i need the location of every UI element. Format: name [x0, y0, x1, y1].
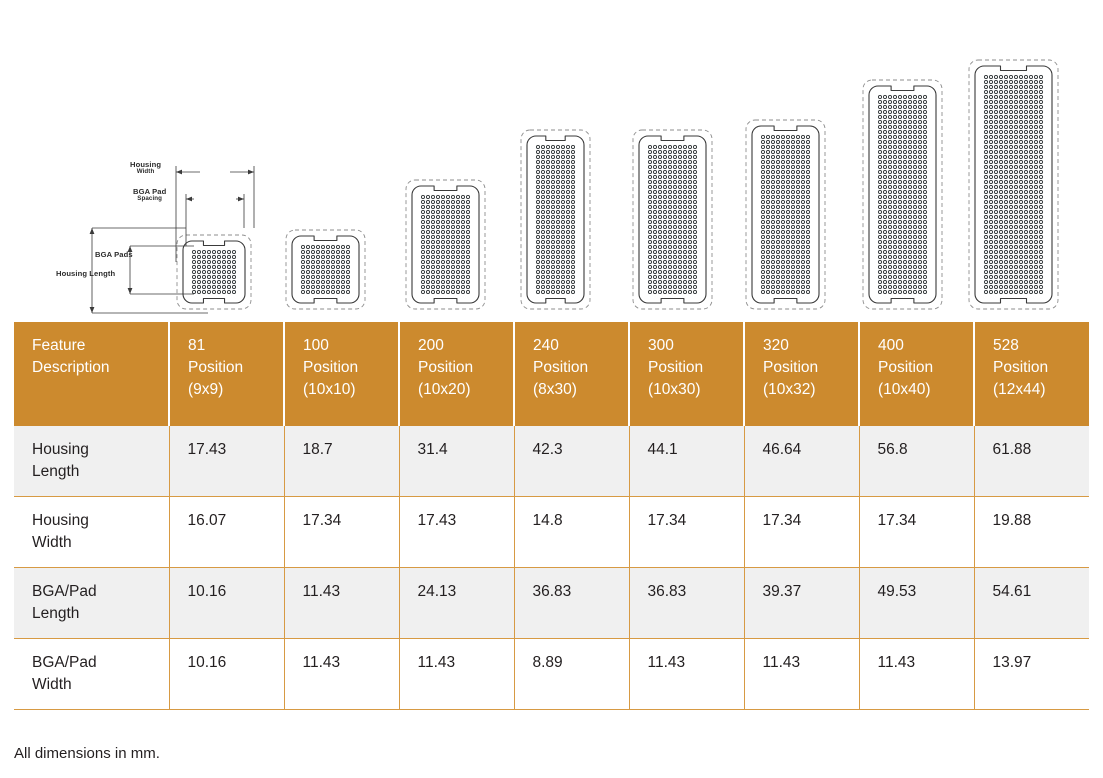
table-row: BGA/Pad Width10.1611.4311.438.8911.4311.… — [14, 639, 1089, 710]
dimension-callouts: Housing Width BGA Pad Spacing BGA Pads H… — [58, 158, 288, 320]
column-header-position-200: 200Position(10x20) — [399, 322, 514, 426]
table-cell-value: 17.43 — [169, 426, 284, 497]
row-header-feature: Housing Width — [14, 497, 169, 568]
connector-illustration-528-position — [968, 59, 1059, 310]
column-header-line: 320 — [763, 335, 858, 357]
column-header-position-528: 528Position(12x44) — [974, 322, 1089, 426]
column-header-line: Position — [188, 357, 283, 379]
column-header-line: 200 — [418, 335, 513, 357]
table-cell-value: 17.43 — [399, 497, 514, 568]
table-cell-value: 56.8 — [859, 426, 974, 497]
callout-leader-lines — [58, 158, 288, 320]
table-cell-value: 24.13 — [399, 568, 514, 639]
column-header-line: Position — [878, 357, 973, 379]
table-cell-value: 11.43 — [744, 639, 859, 710]
column-header-position-240: 240Position(8x30) — [514, 322, 629, 426]
column-header-line: Position — [993, 357, 1089, 379]
table-row: Housing Length17.4318.731.442.344.146.64… — [14, 426, 1089, 497]
connector-outline-and-pads — [520, 129, 591, 310]
connector-illustration-200-position — [405, 179, 486, 310]
row-header-feature: Housing Length — [14, 426, 169, 497]
column-header-line: 100 — [303, 335, 398, 357]
column-header-line: 528 — [993, 335, 1089, 357]
table-cell-value: 54.61 — [974, 568, 1089, 639]
callout-bga-pad-spacing-sub: Spacing — [133, 196, 166, 203]
table-cell-value: 46.64 — [744, 426, 859, 497]
column-header-line: Position — [648, 357, 743, 379]
table-cell-value: 36.83 — [629, 568, 744, 639]
table-header: FeatureDescription81Position(9x9)100Posi… — [14, 322, 1089, 426]
column-header-line: (10x40) — [878, 379, 973, 401]
connector-illustration-300-position — [632, 129, 713, 310]
column-header-line: (9x9) — [188, 379, 283, 401]
column-header-position-81: 81Position(9x9) — [169, 322, 284, 426]
table-cell-value: 11.43 — [629, 639, 744, 710]
table-cell-value: 44.1 — [629, 426, 744, 497]
table-cell-value: 11.43 — [859, 639, 974, 710]
callout-housing-length: Housing Length — [56, 270, 115, 278]
column-header-position-100: 100Position(10x10) — [284, 322, 399, 426]
connector-illustration-240-position — [520, 129, 591, 310]
column-header-line: (10x32) — [763, 379, 858, 401]
column-header-line: Description — [32, 357, 168, 379]
connector-illustration-320-position — [745, 119, 826, 310]
column-header-line: (12x44) — [993, 379, 1089, 401]
connector-outline-and-pads — [405, 179, 486, 310]
column-header-feature: FeatureDescription — [14, 322, 169, 426]
table-cell-value: 8.89 — [514, 639, 629, 710]
column-header-line: 400 — [878, 335, 973, 357]
column-header-line: 300 — [648, 335, 743, 357]
column-header-position-400: 400Position(10x40) — [859, 322, 974, 426]
table-cell-value: 11.43 — [284, 639, 399, 710]
table-header-row: FeatureDescription81Position(9x9)100Posi… — [14, 322, 1089, 426]
column-header-line: Position — [418, 357, 513, 379]
table-cell-value: 10.16 — [169, 639, 284, 710]
table-cell-value: 49.53 — [859, 568, 974, 639]
table-cell-value: 17.34 — [629, 497, 744, 568]
column-header-line: (10x20) — [418, 379, 513, 401]
column-header-line: Position — [533, 357, 628, 379]
table-cell-value: 39.37 — [744, 568, 859, 639]
table-cell-value: 17.34 — [284, 497, 399, 568]
table-cell-value: 61.88 — [974, 426, 1089, 497]
units-footnote: All dimensions in mm. — [14, 745, 160, 762]
table-cell-value: 36.83 — [514, 568, 629, 639]
column-header-line: (10x30) — [648, 379, 743, 401]
column-header-line: 81 — [188, 335, 283, 357]
column-header-line: (10x10) — [303, 379, 398, 401]
row-header-feature: BGA/Pad Width — [14, 639, 169, 710]
table-cell-value: 17.34 — [859, 497, 974, 568]
connector-outline-and-pads — [745, 119, 826, 310]
callout-housing-width-sub: Width — [130, 169, 161, 176]
connector-outline-and-pads — [862, 79, 943, 310]
table-cell-value: 14.8 — [514, 497, 629, 568]
column-header-position-300: 300Position(10x30) — [629, 322, 744, 426]
callout-bga-pads: BGA Pads — [95, 251, 133, 259]
column-header-line: (8x30) — [533, 379, 628, 401]
table-body: Housing Length17.4318.731.442.344.146.64… — [14, 426, 1089, 710]
column-header-line: Feature — [32, 335, 168, 357]
connector-outline-and-pads — [285, 229, 366, 310]
column-header-position-320: 320Position(10x32) — [744, 322, 859, 426]
table-cell-value: 16.07 — [169, 497, 284, 568]
table-cell-value: 11.43 — [399, 639, 514, 710]
row-header-feature: BGA/Pad Length — [14, 568, 169, 639]
connector-dimensions-table: FeatureDescription81Position(9x9)100Posi… — [14, 322, 1089, 710]
datasheet-page: Housing Width BGA Pad Spacing BGA Pads H… — [0, 0, 1103, 778]
column-header-line: Position — [303, 357, 398, 379]
callout-bga-pad-spacing: BGA Pad Spacing — [133, 188, 166, 202]
table-row: BGA/Pad Length10.1611.4324.1336.8336.833… — [14, 568, 1089, 639]
column-header-line: 240 — [533, 335, 628, 357]
table-cell-value: 17.34 — [744, 497, 859, 568]
table-cell-value: 11.43 — [284, 568, 399, 639]
connector-illustration-100-position — [285, 229, 366, 310]
connector-outline-and-pads — [968, 59, 1059, 310]
table-cell-value: 10.16 — [169, 568, 284, 639]
housing-body-outline — [527, 136, 584, 303]
table-cell-value: 42.3 — [514, 426, 629, 497]
table-cell-value: 18.7 — [284, 426, 399, 497]
table-cell-value: 13.97 — [974, 639, 1089, 710]
callout-housing-width: Housing Width — [130, 161, 161, 175]
table-cell-value: 19.88 — [974, 497, 1089, 568]
connector-illustration-400-position — [862, 79, 943, 310]
table-row: Housing Width16.0717.3417.4314.817.3417.… — [14, 497, 1089, 568]
column-header-line: Position — [763, 357, 858, 379]
table-cell-value: 31.4 — [399, 426, 514, 497]
connector-outline-and-pads — [632, 129, 713, 310]
